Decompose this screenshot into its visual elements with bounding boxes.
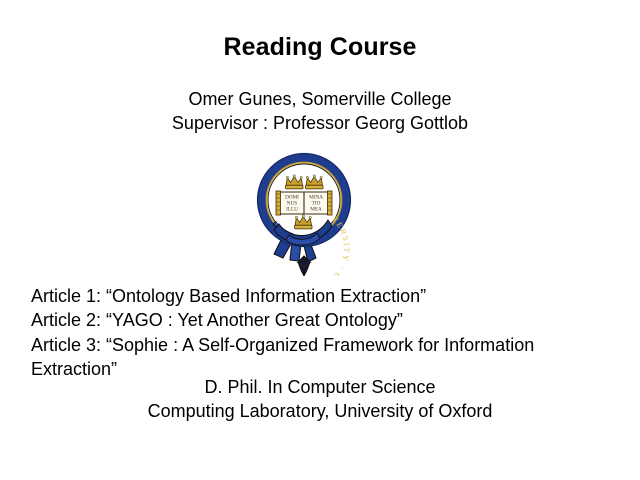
supervisor-line: Supervisor : Professor Georg Gottlob	[0, 112, 640, 136]
list-item: Article 1: “Ontology Based Information E…	[31, 284, 611, 308]
degree-line: D. Phil. In Computer Science	[0, 375, 640, 399]
footer-block: D. Phil. In Computer Science Computing L…	[0, 375, 640, 423]
author-line: Omer Gunes, Somerville College	[0, 88, 640, 112]
institution-line: Computing Laboratory, University of Oxfo…	[0, 399, 640, 423]
presenter-block: Omer Gunes, Somerville College Superviso…	[0, 88, 640, 136]
page-title: Reading Course	[0, 34, 640, 62]
list-item: Article 2: “YAGO : Yet Another Great Ont…	[31, 308, 611, 332]
crest-crown-top-right	[306, 175, 323, 189]
university-of-oxford-crest-icon: UNIVERSITY · OF · OXFORD	[256, 152, 352, 276]
article-list: Article 1: “Ontology Based Information E…	[31, 284, 611, 382]
presentation-slide: Reading Course Omer Gunes, Somerville Co…	[0, 0, 640, 480]
book-left-line-3: ILLU	[286, 207, 298, 213]
crest-open-book: DOMI NUS ILLU MINA TIO MEA	[276, 191, 332, 215]
crest-crown-top-left	[286, 175, 303, 189]
crest-crown-bottom	[295, 215, 312, 229]
book-right-line-3: MEA	[310, 207, 322, 213]
